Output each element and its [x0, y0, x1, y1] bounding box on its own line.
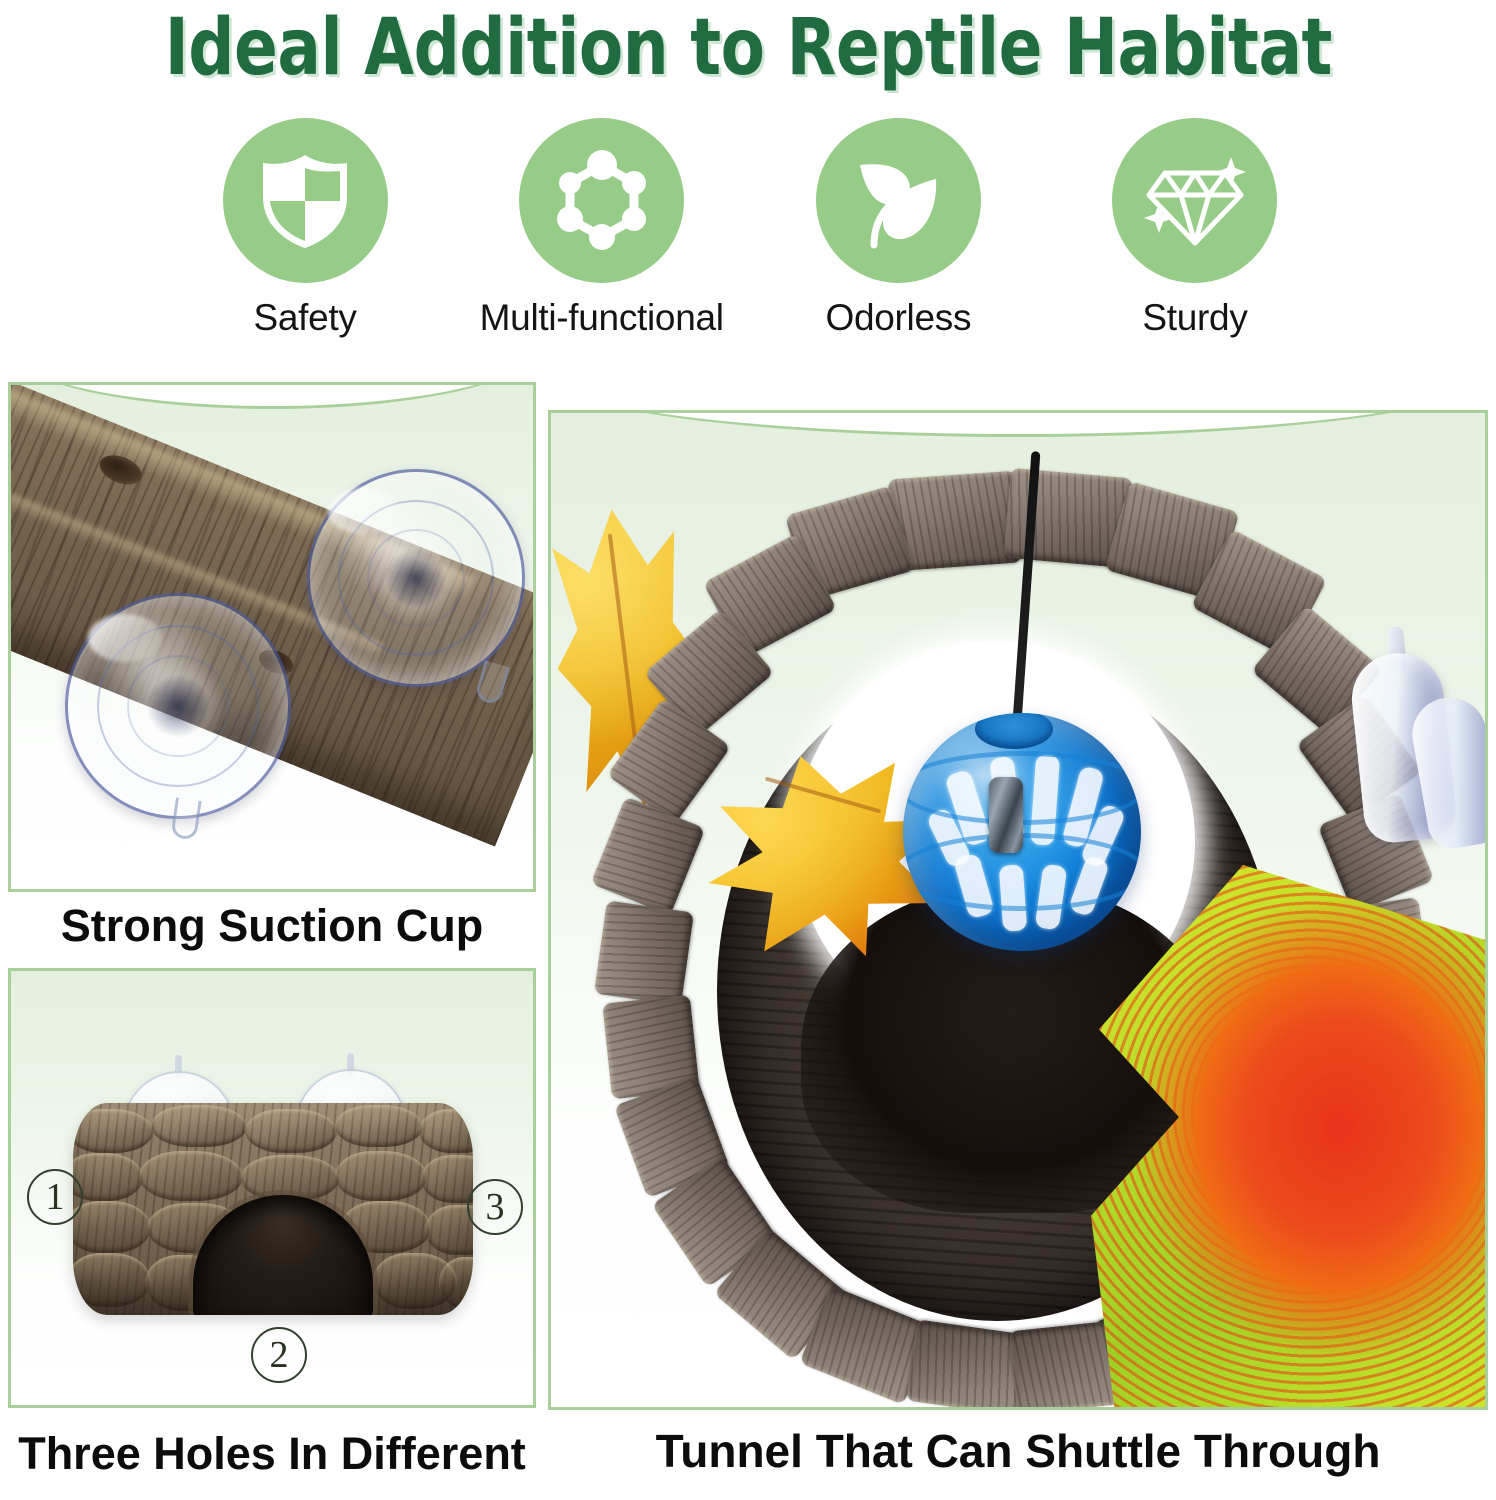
caption-three-holes: Three Holes In Different: [4, 1428, 540, 1480]
caption-strong-suction-cup: Strong Suction Cup: [8, 900, 536, 952]
feature-list: Safety Mul: [180, 118, 1320, 358]
panel-top-curve: [8, 382, 536, 409]
feature-item-multi-functional: Multi-functional: [477, 118, 727, 339]
page-title-text: Ideal Addition to Reptile Habitat: [164, 8, 1331, 88]
suction-cup-lower: [65, 593, 291, 819]
marker-1: 1: [27, 1169, 83, 1225]
diamond-icon: [1143, 151, 1247, 251]
feature-label: Odorless: [825, 297, 971, 339]
log-hide-body: [73, 1103, 473, 1315]
molecule-icon: [550, 149, 654, 253]
marker-3: 3: [467, 1179, 523, 1235]
ball-inner-bell: [989, 777, 1023, 853]
leaf-icon: [848, 151, 948, 251]
marker-2: 2: [251, 1327, 307, 1383]
feature-icon-badge: [1112, 118, 1277, 283]
product-infographic: Ideal Addition to Reptile Habitat Safety: [0, 0, 1496, 1500]
blue-lattice-ball: [903, 713, 1141, 951]
tunnel-photo: [551, 413, 1485, 1407]
panel-strong-suction-cup: [8, 382, 536, 892]
ball-top-cap: [975, 713, 1053, 749]
feature-label: Safety: [253, 297, 356, 339]
feature-item-safety: Safety: [180, 118, 430, 339]
page-title: Ideal Addition to Reptile Habitat: [0, 0, 1496, 96]
feature-item-odorless: Odorless: [773, 118, 1023, 339]
suction-cup-lower-nub: [170, 797, 201, 840]
feature-label: Sturdy: [1142, 297, 1247, 339]
feature-item-sturdy: Sturdy: [1070, 118, 1320, 339]
shield-icon: [257, 151, 353, 251]
suction-cup-upper: [307, 469, 525, 687]
caption-tunnel: Tunnel That Can Shuttle Through: [548, 1424, 1488, 1478]
panel-three-holes: 1 2 3: [8, 968, 536, 1408]
panel-tunnel: [548, 410, 1488, 1410]
feature-icon-badge: [816, 118, 981, 283]
feature-icon-badge: [223, 118, 388, 283]
feature-label: Multi-functional: [480, 297, 724, 339]
feature-icon-badge: [519, 118, 684, 283]
